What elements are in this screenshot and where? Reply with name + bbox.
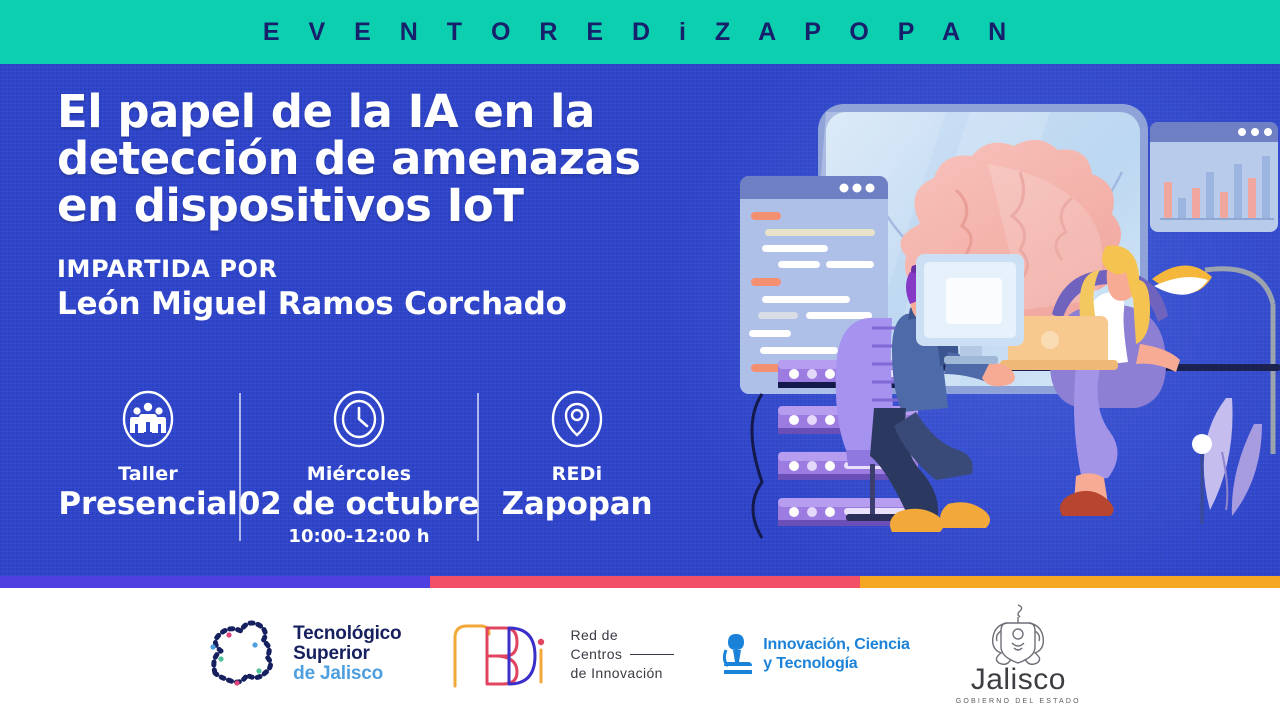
event-details: Taller Presencial Miércoles 02 de octubr… [57, 389, 697, 549]
clock-icon [332, 389, 386, 449]
title-line-2: detección de amenazas [57, 135, 747, 182]
potted-plant [1192, 398, 1262, 524]
jalisco-gobierno-del-estado-logo: Jalisco GOBIERNO DEL ESTADO [956, 603, 1081, 705]
innovacion-ciencia-y-tecnologia-logo: Innovación, Ciencia y Tecnología [720, 630, 909, 678]
date-weekday: Miércoles [307, 463, 412, 485]
title-line-1: El papel de la IA en la [57, 88, 747, 135]
detail-modality: Taller Presencial [57, 389, 239, 522]
redi-rule [630, 654, 674, 655]
banner-text: E V E N T O R E D i Z A P O P A N [263, 18, 1017, 47]
tricolor-stripe [0, 576, 1280, 588]
ict-wordmark: Innovación, Ciencia y Tecnología [763, 635, 909, 673]
ict-line-1: Innovación, Ciencia [763, 635, 909, 654]
date-value: 02 de octubre [239, 486, 479, 522]
time-value: 10:00-12:00 h [288, 526, 429, 547]
redi-line-1: Red de [570, 626, 674, 645]
redi-tagline: Red de Centros de Innovación [570, 626, 674, 683]
detail-location: REDi Zapopan [479, 389, 675, 522]
speaker-block: IMPARTIDA POR León Miguel Ramos Corchado [57, 255, 747, 322]
tsj-line-2: Superior [293, 644, 401, 664]
top-banner: E V E N T O R E D i Z A P O P A N [0, 0, 1280, 64]
footer-logos: Tecnológico Superior de Jalisco Red de [0, 588, 1280, 720]
location-small-label: REDi [552, 463, 603, 485]
map-pin-icon [550, 389, 604, 449]
event-poster: E V E N T O R E D i Z A P O P A N [0, 0, 1280, 720]
title-line-3: en dispositivos IoT [57, 182, 747, 229]
modality-value: Presencial [58, 486, 237, 522]
microscope-icon [720, 630, 754, 678]
speaker-name: León Miguel Ramos Corchado [57, 286, 747, 322]
redi-line-3: de Innovación [570, 664, 674, 683]
stripe-orange [860, 576, 1280, 588]
ai-workspace-illustration [720, 64, 1280, 576]
detail-date: Miércoles 02 de octubre 10:00-12:00 h [241, 389, 477, 547]
redi-wordmark-icon [447, 616, 557, 692]
jalisco-map-dots-icon [199, 615, 281, 693]
location-value: Zapopan [502, 486, 653, 522]
jalisco-coat-of-arms-icon [981, 603, 1055, 665]
redi-line-2: Centros [570, 645, 674, 664]
jalisco-wordmark: Jalisco [971, 663, 1066, 697]
tsj-line-3: de Jalisco [293, 664, 401, 684]
stripe-red [430, 576, 860, 588]
redi-logo: Red de Centros de Innovación [447, 616, 674, 692]
page-title: El papel de la IA en la detección de ame… [57, 88, 747, 229]
tsj-line-1: Tecnológico [293, 624, 401, 644]
jalisco-subtitle: GOBIERNO DEL ESTADO [956, 698, 1081, 705]
tecnologico-superior-de-jalisco-logo: Tecnológico Superior de Jalisco [199, 615, 401, 693]
modality-small-label: Taller [118, 463, 178, 485]
hero-text-column: El papel de la IA en la detección de ame… [57, 88, 747, 322]
bar-chart-window [1150, 122, 1278, 232]
stripe-purple [0, 576, 430, 588]
hero-section: El papel de la IA en la detección de ame… [0, 64, 1280, 576]
people-group-icon [121, 389, 175, 449]
speaker-label: IMPARTIDA POR [57, 255, 747, 283]
tsj-wordmark: Tecnológico Superior de Jalisco [293, 624, 401, 684]
ict-line-2: y Tecnología [763, 654, 909, 673]
